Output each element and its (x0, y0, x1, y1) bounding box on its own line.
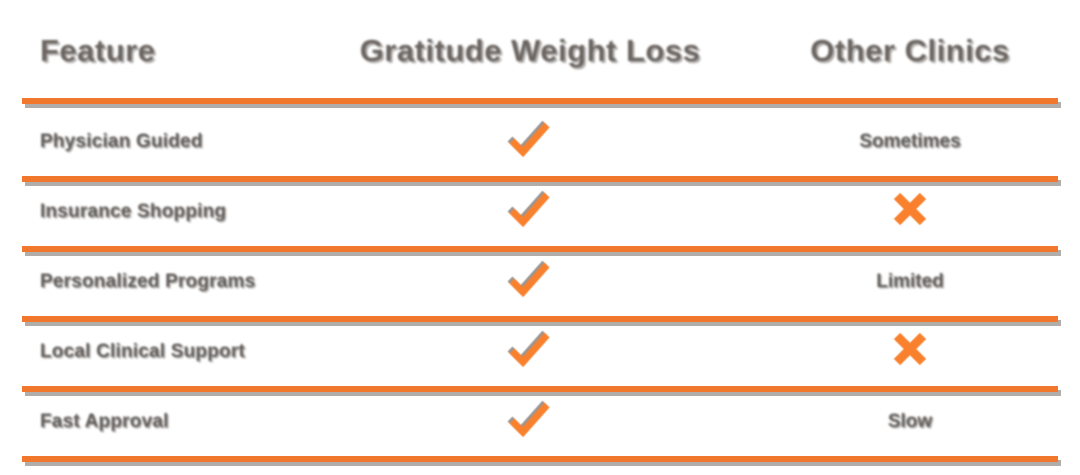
row-other-value: Limited (760, 271, 1080, 293)
row-other-value: Slow (760, 411, 1080, 433)
row-other-value (760, 191, 1080, 233)
table-header-row: Feature Gratitude Weight Loss Other Clin… (0, 18, 1080, 84)
table-row: Personalized Programs Limited (0, 254, 1080, 310)
row-feature-label: Physician Guided (0, 131, 300, 153)
row-brand-value (300, 261, 760, 304)
cross-icon (892, 331, 928, 367)
row-brand-value (300, 121, 760, 164)
divider-line (22, 176, 1058, 182)
divider-line (22, 456, 1058, 462)
row-feature-label: Fast Approval (0, 411, 300, 433)
comparison-table: Feature Gratitude Weight Loss Other Clin… (0, 0, 1080, 475)
check-icon (507, 401, 553, 439)
divider-line (22, 246, 1058, 252)
row-brand-value (300, 401, 760, 444)
row-other-text: Limited (876, 271, 944, 293)
check-icon (507, 191, 553, 229)
row-other-text: Sometimes (859, 131, 960, 153)
row-other-text: Slow (888, 411, 932, 433)
table-row: Physician Guided Sometimes (0, 114, 1080, 170)
row-other-value: Sometimes (760, 131, 1080, 153)
check-icon (507, 331, 553, 369)
row-brand-value (300, 191, 760, 234)
check-icon (507, 261, 553, 299)
divider-line (22, 386, 1058, 392)
column-header-other: Other Clinics (760, 33, 1080, 69)
table-row: Insurance Shopping (0, 184, 1080, 240)
column-header-brand: Gratitude Weight Loss (300, 33, 760, 69)
column-header-feature: Feature (0, 33, 300, 69)
row-feature-label: Local Clinical Support (0, 341, 300, 363)
divider-line (22, 316, 1058, 322)
check-icon (507, 121, 553, 159)
row-other-value (760, 331, 1080, 373)
divider-line (22, 98, 1058, 104)
cross-icon (892, 191, 928, 227)
row-feature-label: Insurance Shopping (0, 201, 300, 223)
table-row: Local Clinical Support (0, 324, 1080, 380)
table-row: Fast Approval Slow (0, 394, 1080, 450)
row-brand-value (300, 331, 760, 374)
row-feature-label: Personalized Programs (0, 271, 300, 293)
